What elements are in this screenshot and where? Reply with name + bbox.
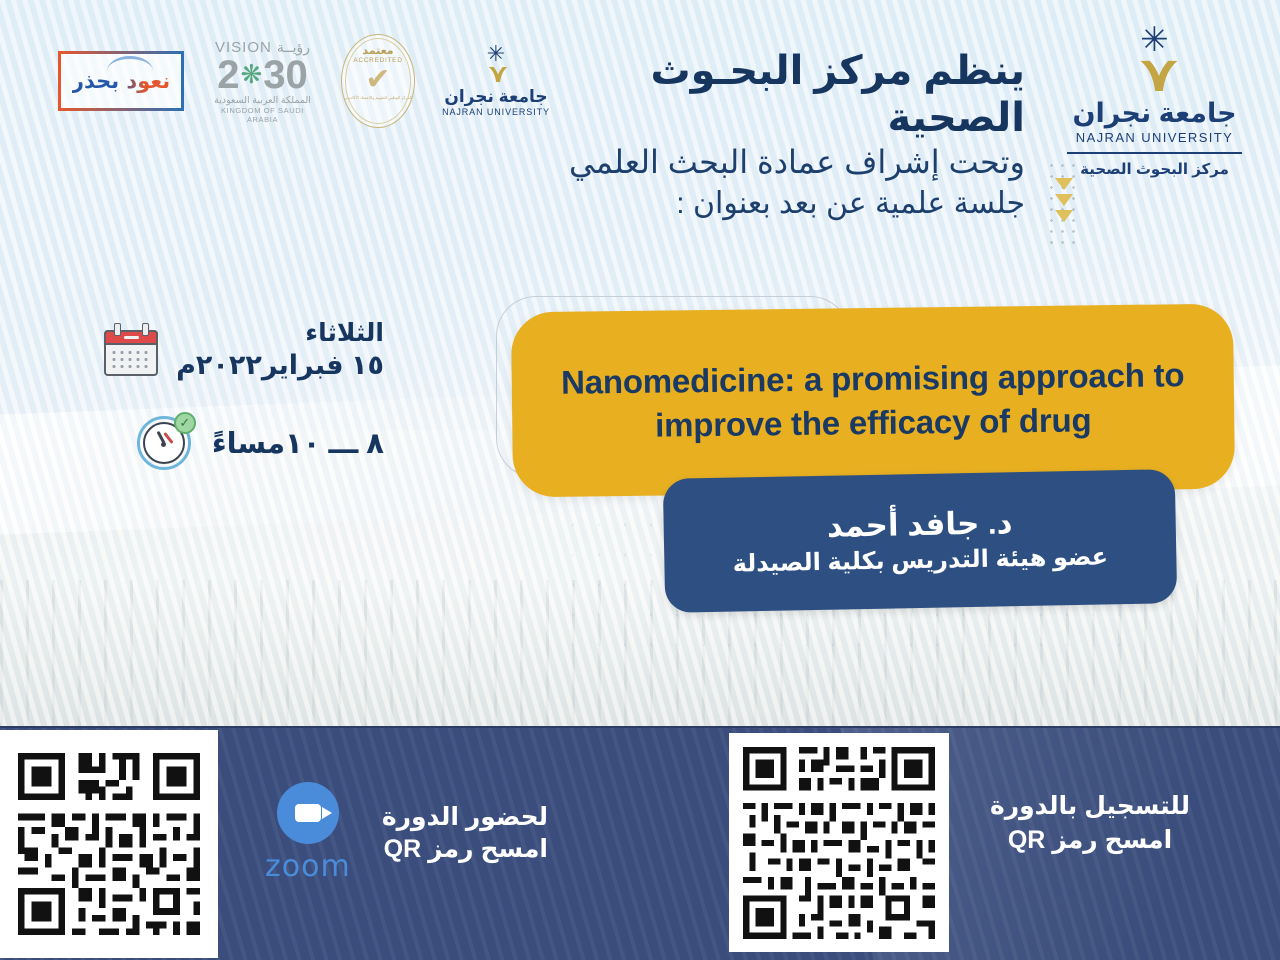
clock-icon: ✓ xyxy=(134,413,196,475)
zoom-wordmark: zoom xyxy=(256,849,360,884)
accreditation-seal: معتمد ACCREDITED ✔ المركز الوطني للتقويم… xyxy=(341,34,415,128)
university-name-en: NAJRAN UNIVERSITY xyxy=(1047,130,1262,145)
accredited-label-en: ACCREDITED xyxy=(353,57,402,64)
qr-code-register[interactable] xyxy=(737,741,941,945)
event-date-text: الثلاثاء ١٥ فبراير٢٠٢٢م xyxy=(176,318,384,383)
badge-divider xyxy=(1067,152,1242,154)
organizer-line-1: ينظم مركز البحـوث الصحية xyxy=(505,48,1025,142)
vision-number-suffix: 30 xyxy=(263,56,308,94)
register-line-1: للتسجيل بالدورة xyxy=(940,790,1240,824)
university-name-ar: جامعة نجران xyxy=(1047,98,1262,129)
return-with-caution-label: نعود بحذر xyxy=(72,69,170,93)
checkmark-icon: ✔ xyxy=(365,65,390,95)
vision-2030-logo: VISION رؤيــة 2 ❋ 30 المملكة العربية الس… xyxy=(210,39,315,124)
organizer-line-3: جلسة علمية عن بعد بعنوان : xyxy=(505,184,1025,225)
vision-kingdom-ar: المملكة العربية السعودية xyxy=(210,95,315,106)
return-with-caution-logo: نعود بحذر xyxy=(58,51,184,111)
calendar-icon xyxy=(102,322,160,380)
check-badge-icon: ✓ xyxy=(174,412,196,434)
qr-code-attend[interactable] xyxy=(11,746,207,942)
speaker-role: عضو هيئة التدريس بكلية الصيدلة xyxy=(732,541,1108,579)
session-title-card: Nanomedicine: a promising approach to im… xyxy=(511,304,1235,498)
attend-instructions: لحضور الدورة امسح رمز QR zoom xyxy=(248,782,548,884)
vision-number-prefix: 2 xyxy=(217,56,239,94)
event-time-row: ٨ ـــ ١٠مساءً ✓ xyxy=(84,413,384,475)
top-logo-row: نعود بحذر VISION رؤيــة 2 ❋ 30 المملكة ا… xyxy=(58,34,551,128)
accredited-label-ar: معتمد xyxy=(362,44,393,57)
event-date-row: الثلاثاء ١٥ فبراير٢٠٢٢م xyxy=(84,318,384,383)
poster-canvas: نعود بحذر VISION رؤيــة 2 ❋ 30 المملكة ا… xyxy=(0,0,1280,960)
najran-university-badge: ✳ ⋎ جامعة نجران NAJRAN UNIVERSITY مركز ا… xyxy=(1047,28,1262,178)
palm-emblem-icon: ❋ xyxy=(240,62,262,87)
accredited-sub-ar: المركز الوطني للتقويم والاعتماد الأكاديم… xyxy=(344,95,412,100)
organizer-line-2: وتحت إشراف عمادة البحث العلمي xyxy=(505,142,1025,184)
event-time-text: ٨ ـــ ١٠مساءً xyxy=(212,427,384,462)
zoom-camera-icon xyxy=(277,782,339,844)
session-title: Nanomedicine: a promising approach to im… xyxy=(511,352,1234,449)
qr-code-register-panel[interactable] xyxy=(729,733,949,952)
triangle-decoration xyxy=(1046,160,1082,246)
triangle-icon xyxy=(1055,178,1073,190)
zoom-logo: zoom xyxy=(256,782,360,884)
speaker-name: د. جافد أحمد xyxy=(827,504,1013,545)
event-day: الثلاثاء xyxy=(176,318,384,349)
organizer-heading: ينظم مركز البحـوث الصحية وتحت إشراف عماد… xyxy=(505,48,1025,224)
event-datetime-block: الثلاثاء ١٥ فبراير٢٠٢٢م ٨ ـــ ١٠مساءً xyxy=(84,318,384,475)
palm-v-mark-icon: ⋎ xyxy=(1047,54,1262,95)
attend-labels: لحضور الدورة امسح رمز QR xyxy=(382,801,548,866)
vision-kingdom-en: KINGDOM OF SAUDI ARABIA xyxy=(210,106,315,124)
event-date: ١٥ فبراير٢٠٢٢م xyxy=(176,349,384,383)
qr-code-attend-panel[interactable] xyxy=(0,730,218,958)
triangle-icon xyxy=(1055,194,1073,206)
event-time: ٨ ـــ ١٠مساءً xyxy=(212,427,384,462)
attend-line-1: لحضور الدورة xyxy=(382,801,548,834)
register-line-2: امسح رمز QR xyxy=(940,824,1240,858)
register-instructions: للتسجيل بالدورة امسح رمز QR xyxy=(940,790,1240,858)
swoosh-icon xyxy=(107,56,153,71)
speaker-card: د. جافد أحمد عضو هيئة التدريس بكلية الصي… xyxy=(663,469,1177,613)
triangle-icon xyxy=(1055,210,1073,222)
attend-line-2: امسح رمز QR xyxy=(382,833,548,866)
